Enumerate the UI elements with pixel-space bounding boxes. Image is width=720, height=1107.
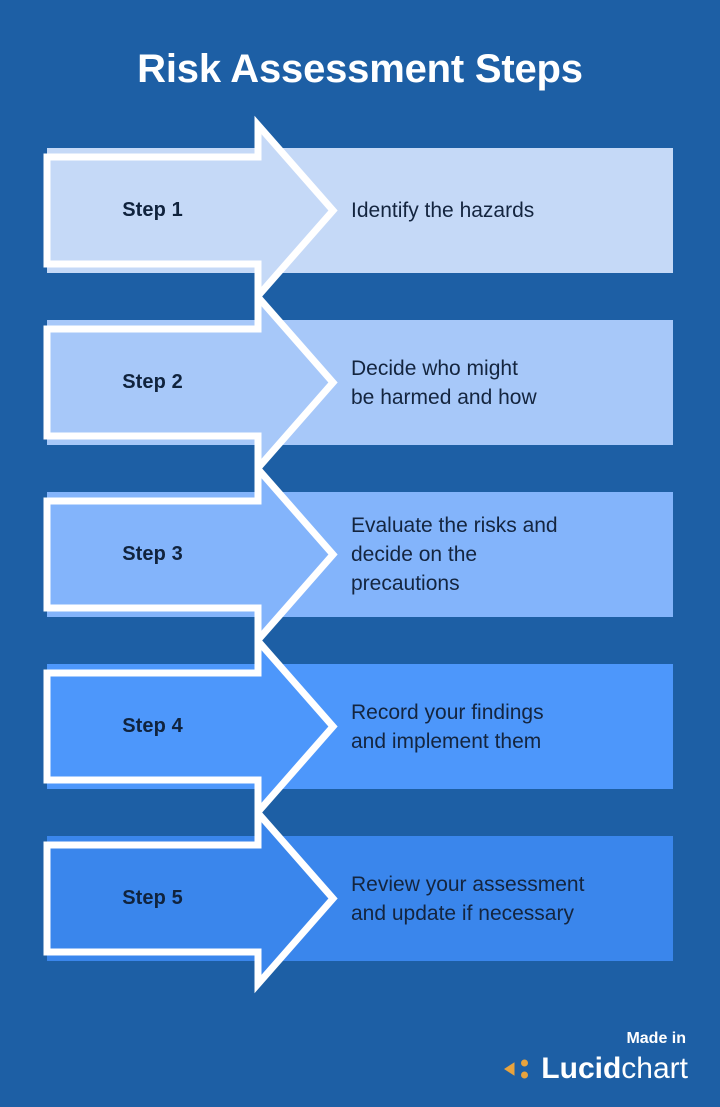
- lucidchart-share-mark-icon: [502, 1056, 532, 1082]
- step-row[interactable]: Step 3Evaluate the risks anddecide on th…: [0, 469, 720, 640]
- lucidchart-wordmark: Lucidchart: [541, 1053, 688, 1085]
- step-row[interactable]: Step 2Decide who mightbe harmed and how: [0, 297, 720, 468]
- step-description-line: Decide who might: [351, 354, 661, 383]
- step-description: Record your findingsand implement them: [351, 664, 661, 789]
- step-description-line: and implement them: [351, 727, 661, 756]
- step-number-label: Step 5: [47, 836, 258, 961]
- steps-list: Step 1Identify the hazardsStep 2Decide w…: [0, 0, 720, 1107]
- step-description-line: and update if necessary: [351, 899, 661, 928]
- step-description-line: Identify the hazards: [351, 196, 661, 225]
- step-description-line: Evaluate the risks and: [351, 511, 661, 540]
- step-description: Decide who mightbe harmed and how: [351, 320, 661, 445]
- step-description: Review your assessmentand update if nece…: [351, 836, 661, 961]
- infographic-canvas: Risk Assessment Steps Step 1Identify the…: [0, 0, 720, 1107]
- lucidchart-logo: Lucidchart: [502, 1053, 688, 1085]
- step-number-label: Step 1: [47, 148, 258, 273]
- step-description-line: decide on the: [351, 540, 661, 569]
- step-description-line: Record your findings: [351, 698, 661, 727]
- step-row[interactable]: Step 1Identify the hazards: [0, 125, 720, 296]
- step-description: Evaluate the risks anddecide on thepreca…: [351, 492, 661, 617]
- step-description-line: precautions: [351, 569, 661, 598]
- step-number-label: Step 2: [47, 320, 258, 445]
- step-row[interactable]: Step 4Record your findingsand implement …: [0, 641, 720, 812]
- step-description-line: Review your assessment: [351, 870, 661, 899]
- step-number-label: Step 4: [47, 664, 258, 789]
- lucidchart-attribution: Made in Lucidchart: [502, 1029, 688, 1085]
- step-number-label: Step 3: [47, 492, 258, 617]
- brand-lucid: Lucid: [541, 1052, 621, 1085]
- brand-chart: chart: [621, 1052, 688, 1085]
- step-row[interactable]: Step 5Review your assessmentand update i…: [0, 813, 720, 984]
- step-description-line: be harmed and how: [351, 383, 661, 412]
- step-description: Identify the hazards: [351, 148, 661, 273]
- made-in-label: Made in: [502, 1029, 686, 1049]
